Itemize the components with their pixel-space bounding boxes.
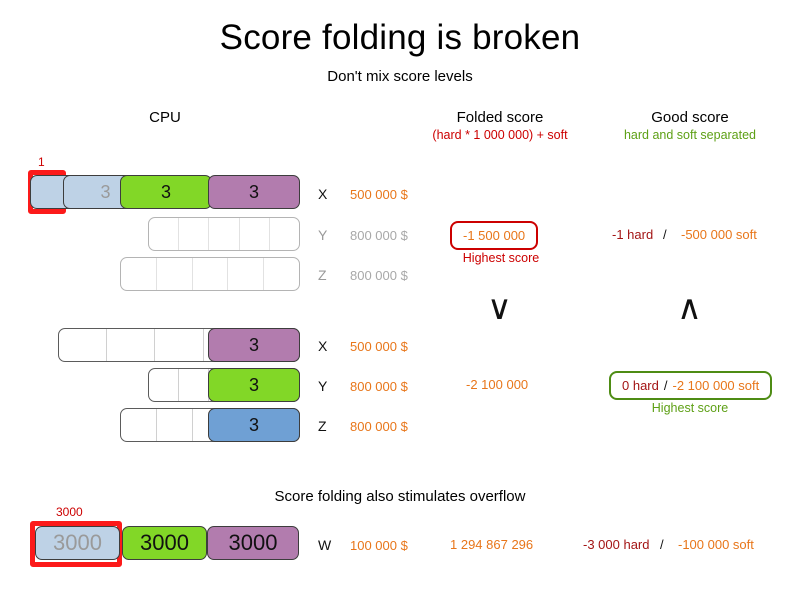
row-name-a-y: Y	[318, 227, 327, 243]
cpu-segment-w-1[interactable]: 3000	[35, 526, 120, 560]
column-header-cpu: CPU	[100, 108, 230, 127]
good-score-soft-w: -100 000 soft	[678, 537, 754, 552]
good-score-separator-b: /	[664, 378, 668, 393]
row-cost-a-x: 500 000 $	[350, 187, 408, 202]
folded-score-value-b: -2 100 000	[466, 377, 528, 392]
cpu-segment-b-y-1[interactable]: 3	[208, 368, 300, 402]
cpu-tick	[59, 329, 107, 361]
column-header-folded-label: Folded score	[400, 108, 600, 127]
comparator-folded-icon: ∨	[487, 291, 512, 325]
row-cost-a-y: 800 000 $	[350, 228, 408, 243]
column-header-good-score: Good score hard and soft separated	[590, 108, 790, 143]
slide-canvas: Score folding is broken Don't mix score …	[0, 0, 800, 600]
cpu-tick	[179, 218, 209, 250]
cpu-tick	[121, 258, 157, 290]
cpu-segment-b-z-1[interactable]: 3	[208, 408, 300, 442]
row-cost-w: 100 000 $	[350, 538, 408, 553]
row-cost-a-z: 800 000 $	[350, 268, 408, 283]
cpu-tick	[157, 409, 193, 441]
row-name-b-y: Y	[318, 378, 327, 394]
good-score-soft-a: -500 000 soft	[681, 227, 757, 242]
cpu-tick	[179, 369, 209, 401]
cpu-bar-row-a-z[interactable]	[120, 257, 300, 291]
column-header-cpu-label: CPU	[100, 108, 230, 127]
cpu-tick	[121, 409, 157, 441]
cpu-segment-b-x-1[interactable]: 3	[208, 328, 300, 362]
overflow-marker-label-a: 1	[38, 155, 45, 169]
column-header-good-label: Good score	[590, 108, 790, 127]
row-name-w: W	[318, 537, 331, 553]
cpu-tick	[240, 218, 270, 250]
cpu-tick	[149, 218, 179, 250]
cpu-tick	[270, 218, 299, 250]
row-name-a-x: X	[318, 186, 327, 202]
cpu-tick	[107, 329, 155, 361]
good-score-hard-a: -1 hard	[612, 227, 653, 242]
good-score-soft-b: -2 100 000 soft	[673, 378, 760, 393]
row-cost-b-y: 800 000 $	[350, 379, 408, 394]
cpu-tick	[155, 329, 203, 361]
cpu-segment-w-2[interactable]: 3000	[122, 526, 207, 560]
row-cost-b-x: 500 000 $	[350, 339, 408, 354]
comparator-good-icon: ∧	[677, 291, 702, 325]
folded-score-value-w: 1 294 867 296	[450, 537, 533, 552]
cpu-tick	[157, 258, 193, 290]
good-score-hard-b: 0 hard	[622, 378, 659, 393]
cpu-tick	[193, 258, 229, 290]
row-name-a-z: Z	[318, 267, 327, 283]
page-subtitle: Don't mix score levels	[0, 68, 800, 85]
cpu-tick	[228, 258, 264, 290]
column-header-folded-formula: (hard * 1 000 000) + soft	[400, 127, 600, 143]
column-header-good-formula: hard and soft separated	[590, 127, 790, 143]
good-score-hard-w: -3 000 hard	[583, 537, 650, 552]
cpu-segment-a-x-2[interactable]: 3	[120, 175, 212, 209]
good-score-caption-b: Highest score	[609, 401, 771, 415]
folded-score-value-a: -1 500 000	[463, 228, 525, 243]
cpu-tick	[264, 258, 299, 290]
folded-score-caption-a: Highest score	[455, 251, 547, 265]
row-name-b-x: X	[318, 338, 327, 354]
overflow-section-title: Score folding also stimulates overflow	[0, 488, 800, 505]
row-cost-b-z: 800 000 $	[350, 419, 408, 434]
cpu-tick	[209, 218, 239, 250]
page-title: Score folding is broken	[0, 18, 800, 58]
good-score-separator-a: /	[663, 227, 667, 242]
good-score-separator-w: /	[660, 537, 664, 552]
good-score-box-b[interactable]: 0 hard / -2 100 000 soft	[609, 371, 772, 400]
row-name-b-z: Z	[318, 418, 327, 434]
cpu-segment-w-3[interactable]: 3000	[207, 526, 299, 560]
cpu-tick	[149, 369, 179, 401]
cpu-segment-a-x-3[interactable]: 3	[208, 175, 300, 209]
column-header-folded-score: Folded score (hard * 1 000 000) + soft	[400, 108, 600, 143]
folded-score-box-a[interactable]: -1 500 000	[450, 221, 538, 250]
overflow-marker-label-w: 3000	[56, 505, 83, 519]
cpu-bar-row-a-y[interactable]	[148, 217, 300, 251]
